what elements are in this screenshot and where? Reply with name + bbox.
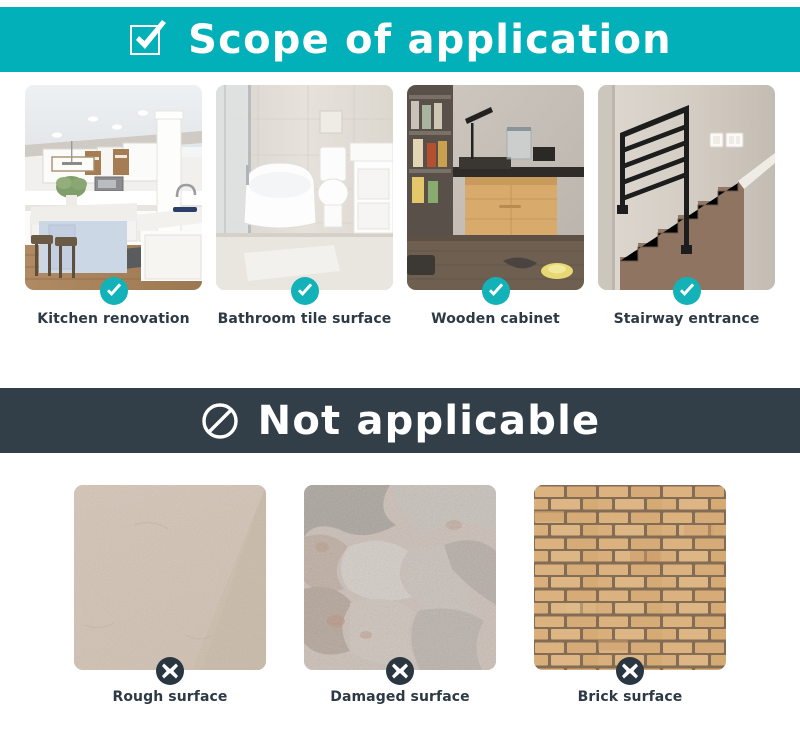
bathroom-photo xyxy=(216,85,393,290)
not-applicable-banner-title: Not applicable xyxy=(258,401,601,441)
not-applicable-card-damaged[interactable]: Damaged surface xyxy=(304,485,496,705)
check-badge-icon xyxy=(100,277,128,305)
check-badge-icon xyxy=(291,277,319,305)
check-badge-icon xyxy=(482,277,510,305)
scope-card-stairway[interactable]: Stairway entrance xyxy=(598,85,775,327)
scope-card-label: Stairway entrance xyxy=(614,311,760,327)
scope-card-label: Wooden cabinet xyxy=(431,311,560,327)
scope-card-bathroom[interactable]: Bathroom tile surface xyxy=(216,85,393,327)
brick-wall-photo xyxy=(534,485,726,670)
scope-banner: Scope of application xyxy=(0,7,800,72)
prohibition-icon xyxy=(200,401,240,441)
not-applicable-card-rough[interactable]: Rough surface xyxy=(74,485,266,705)
scope-card-label: Kitchen renovation xyxy=(37,311,189,327)
scope-banner-title: Scope of application xyxy=(188,20,672,60)
not-applicable-card-label: Brick surface xyxy=(578,689,683,705)
check-badge-icon xyxy=(673,277,701,305)
x-badge-icon xyxy=(616,657,644,685)
scope-card-label: Bathroom tile surface xyxy=(218,311,392,327)
stairway-photo xyxy=(598,85,775,290)
scope-card-wooden-cabinet[interactable]: Wooden cabinet xyxy=(407,85,584,327)
not-applicable-banner: Not applicable xyxy=(0,388,800,453)
x-badge-icon xyxy=(156,657,184,685)
not-applicable-card-label: Damaged surface xyxy=(330,689,470,705)
wooden-cabinet-photo xyxy=(407,85,584,290)
damaged-peeling-paint-photo xyxy=(304,485,496,670)
rough-stucco-photo xyxy=(74,485,266,670)
not-applicable-card-label: Rough surface xyxy=(112,689,227,705)
not-applicable-card-brick[interactable]: Brick surface xyxy=(534,485,726,705)
scope-card-kitchen[interactable]: Kitchen renovation xyxy=(25,85,202,327)
x-badge-icon xyxy=(386,657,414,685)
scope-items-row: Kitchen renovation xyxy=(0,85,800,327)
not-applicable-items-row: Rough surface xyxy=(0,485,800,705)
kitchen-photo xyxy=(25,85,202,290)
checkbox-check-icon xyxy=(128,19,170,61)
